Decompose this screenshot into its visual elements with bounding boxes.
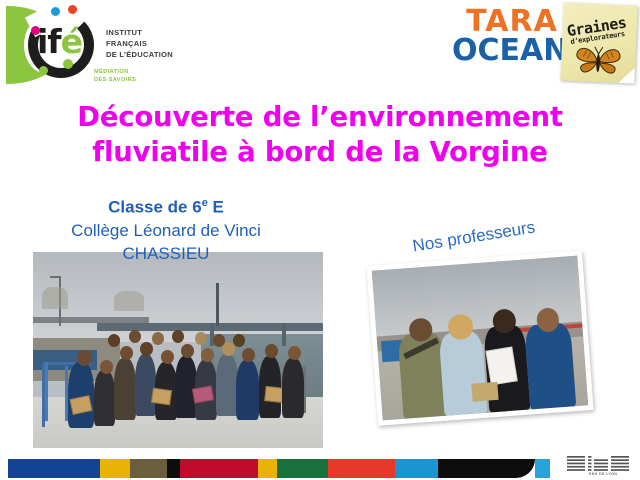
ens-de-lyon-logo: ENS DE LYON (567, 456, 633, 478)
ife-logo: ifé INSTITUT FRANÇAIS DE L’ÉDUCATION MÉD… (6, 4, 206, 90)
photo-student (94, 370, 115, 426)
photo-tree-2 (114, 291, 144, 311)
color-bar-segment-crimson (180, 459, 258, 478)
photo-clipboard (151, 388, 172, 405)
teachers-photo (372, 256, 588, 421)
teacher-papers (486, 347, 518, 386)
ens-logo-caption: ENS DE LYON (589, 472, 617, 476)
class-caption: Classe de 6e E Collège Léonard de Vinci … (16, 196, 316, 265)
color-bar-segment-olive (130, 459, 167, 478)
photo-student (282, 358, 304, 418)
ife-dot-blue-icon (51, 7, 60, 16)
ife-wordmark: ifé (37, 25, 82, 58)
photo-student (140, 342, 153, 356)
teacher-figure (438, 330, 487, 415)
color-bar-segment-black-2 (438, 459, 535, 478)
color-bar-segment-yellow-2 (258, 459, 277, 478)
photo-student (236, 360, 259, 420)
class-caption-line-1: Classe de 6e E (16, 196, 316, 220)
ife-institute-line-1: INSTITUT (106, 28, 173, 39)
color-bar-segment-light-blue (535, 459, 550, 478)
color-bar-segment-black-1 (167, 459, 180, 478)
color-bar-segment-red-orange (328, 459, 395, 478)
photo-tree-1 (42, 287, 68, 309)
class-caption-line-1-prefix: Classe de 6 (108, 198, 202, 217)
photo-rail-post-1 (45, 362, 48, 421)
ife-institute-name: INSTITUT FRANÇAIS DE L’ÉDUCATION (106, 28, 173, 61)
photo-student (213, 334, 225, 347)
photo-student (161, 350, 174, 364)
ife-dot-orange-icon (68, 5, 77, 14)
color-bar-segment-blue (8, 459, 100, 478)
teachers-caption: Nos professeurs (411, 217, 536, 256)
graines-explorateurs-sticky-note: Graines d’explorateurs (560, 2, 637, 83)
ife-dot-green-1-icon (39, 66, 48, 75)
photo-student (120, 346, 133, 360)
photo-student (175, 356, 197, 418)
page-title: Découverte de l’environnement fluviatile… (28, 100, 612, 171)
color-bar-segment-green (277, 459, 328, 478)
tara-oceans-logo: TARA OCEANS (452, 8, 572, 84)
ife-wordmark-main: if (37, 22, 61, 61)
butterfly-icon (573, 43, 622, 79)
photo-student (242, 348, 255, 362)
photo-student (129, 330, 141, 343)
photo-student (114, 358, 136, 420)
teacher-figure (525, 322, 576, 409)
ife-tagline-line-2: DES SAVOIRS (94, 76, 136, 84)
photo-student (135, 354, 156, 416)
page-title-line-1: Découverte de l’environnement (28, 100, 612, 135)
ife-tagline: MÉDIATION DES SAVOIRS (94, 68, 136, 85)
photo-bridge-pier-2 (282, 323, 286, 347)
ife-institute-line-3: DE L’ÉDUCATION (106, 50, 173, 61)
ife-institute-line-2: FRANÇAIS (106, 39, 173, 50)
ife-wordmark-accent: é (61, 22, 82, 61)
sticky-note-curl (618, 67, 635, 84)
ife-tagline-line-1: MÉDIATION (94, 68, 136, 76)
page-title-line-2: fluviatile à bord de la Vorgine (28, 135, 612, 170)
class-caption-line-1-suffix: E (208, 198, 224, 217)
color-bar-segment-yellow-1 (100, 459, 130, 478)
photo-mast-2 (216, 283, 219, 326)
teacher-figure (408, 318, 432, 342)
tara-logo-line-2: OCEANS (452, 37, 572, 66)
class-caption-line-2: Collège Léonard de Vinci (16, 220, 316, 243)
photo-student (216, 354, 238, 416)
photo-student (152, 332, 164, 345)
photo-student (181, 344, 194, 358)
photo-student (77, 350, 92, 366)
photo-student (265, 344, 278, 358)
class-caption-line-3: CHASSIEU (16, 243, 316, 266)
color-bar-segment-sky-blue (395, 459, 438, 478)
teachers-photo-bag (471, 382, 499, 402)
photo-mast-arm (50, 276, 60, 278)
class-photo (33, 252, 323, 448)
color-bar (8, 459, 550, 478)
teachers-photo-frame (366, 250, 593, 425)
photo-student (68, 362, 94, 428)
photo-student (100, 360, 113, 374)
ens-mark-icon (567, 456, 629, 471)
